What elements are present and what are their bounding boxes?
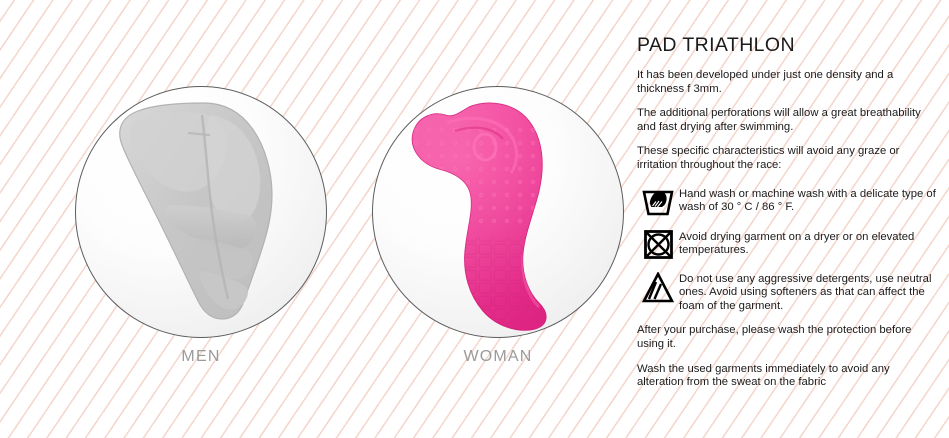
care-text-hand-wash: Hand wash or machine wash with a delicat… bbox=[679, 185, 937, 215]
men-pad-image bbox=[76, 87, 327, 338]
care-row-hand-wash: Hand wash or machine wash with a delicat… bbox=[637, 185, 937, 217]
product-men: MEN bbox=[75, 86, 327, 366]
care-row-no-bleach: Do not use any aggressive detergents, us… bbox=[637, 271, 937, 314]
product-label-men: MEN bbox=[75, 348, 327, 366]
page-stage: MEN bbox=[0, 0, 949, 438]
info-footer-paragraph-1: After your purchase, please wash the pro… bbox=[637, 324, 937, 351]
product-woman: WOMAN bbox=[372, 86, 624, 366]
care-row-no-tumble-dry: Avoid drying garment on a dryer or on el… bbox=[637, 228, 937, 260]
info-panel: PAD TRIATHLON It has been developed unde… bbox=[637, 34, 937, 401]
do-not-tumble-dry-icon bbox=[637, 228, 679, 260]
product-circle-men bbox=[75, 86, 327, 338]
info-paragraph-1: It has been developed under just one den… bbox=[637, 69, 937, 96]
info-footer-paragraph-2: Wash the used garments immediately to av… bbox=[637, 363, 937, 390]
product-circle-woman bbox=[372, 86, 624, 338]
care-instructions-list: Hand wash or machine wash with a delicat… bbox=[637, 185, 937, 314]
non-chlorine-bleach-icon bbox=[637, 271, 679, 303]
page-title: PAD TRIATHLON bbox=[637, 34, 937, 57]
product-label-woman: WOMAN bbox=[372, 348, 624, 366]
info-paragraph-2: The additional perforations will allow a… bbox=[637, 107, 937, 134]
info-paragraph-3: These specific characteristics will avoi… bbox=[637, 145, 937, 172]
hand-wash-icon bbox=[637, 185, 679, 217]
care-text-no-bleach: Do not use any aggressive detergents, us… bbox=[679, 271, 937, 314]
care-text-no-tumble-dry: Avoid drying garment on a dryer or on el… bbox=[679, 228, 937, 258]
woman-pad-image bbox=[373, 87, 624, 338]
